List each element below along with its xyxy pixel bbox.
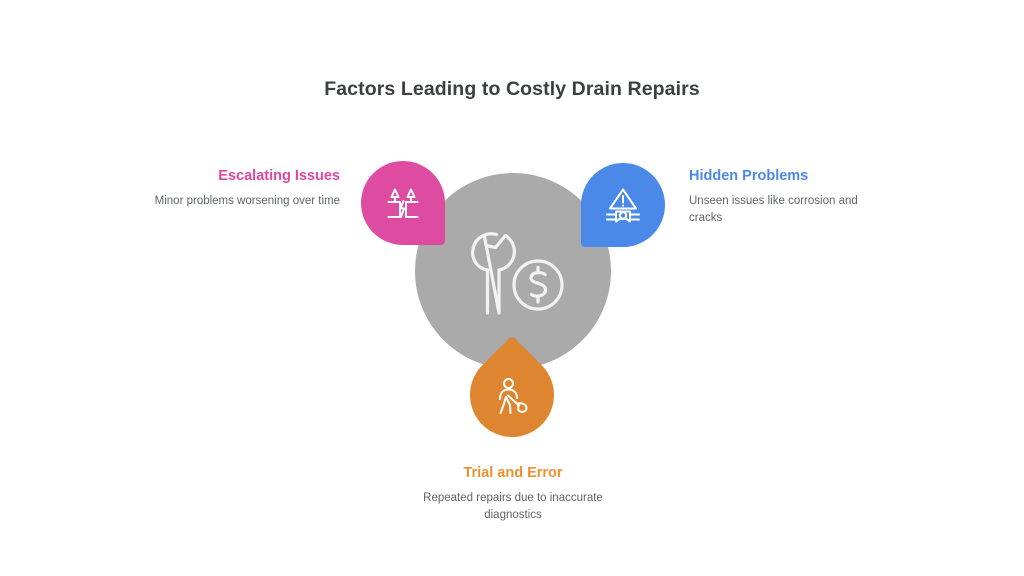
node-hidden-problems[interactable]: [581, 163, 665, 247]
worker-digging-icon: [489, 375, 533, 419]
node-trial-and-error[interactable]: [470, 353, 554, 437]
label-heading-trial-and-error: Trial and Error: [413, 465, 613, 482]
label-heading-hidden-problems: Hidden Problems: [689, 168, 889, 185]
label-block-hidden-problems: Hidden Problems Unseen issues like corro…: [689, 168, 889, 227]
node-escalating-issues[interactable]: [361, 161, 445, 245]
pipe-warning-icon: [601, 183, 645, 227]
label-block-escalating-issues: Escalating Issues Minor problems worseni…: [148, 168, 340, 210]
label-heading-escalating-issues: Escalating Issues: [148, 168, 340, 185]
page-title: Factors Leading to Costly Drain Repairs: [0, 78, 1024, 101]
wrench-dollar-icon: [455, 228, 571, 320]
label-desc-trial-and-error: Repeated repairs due to inaccurate diagn…: [413, 490, 613, 523]
label-desc-escalating-issues: Minor problems worsening over time: [148, 193, 340, 210]
infographic-canvas: Factors Leading to Costly Drain Repairs: [0, 0, 1024, 576]
cracked-pipe-icon: [381, 181, 425, 225]
label-desc-hidden-problems: Unseen issues like corrosion and cracks: [689, 193, 889, 226]
label-block-trial-and-error: Trial and Error Repeated repairs due to …: [413, 465, 613, 524]
